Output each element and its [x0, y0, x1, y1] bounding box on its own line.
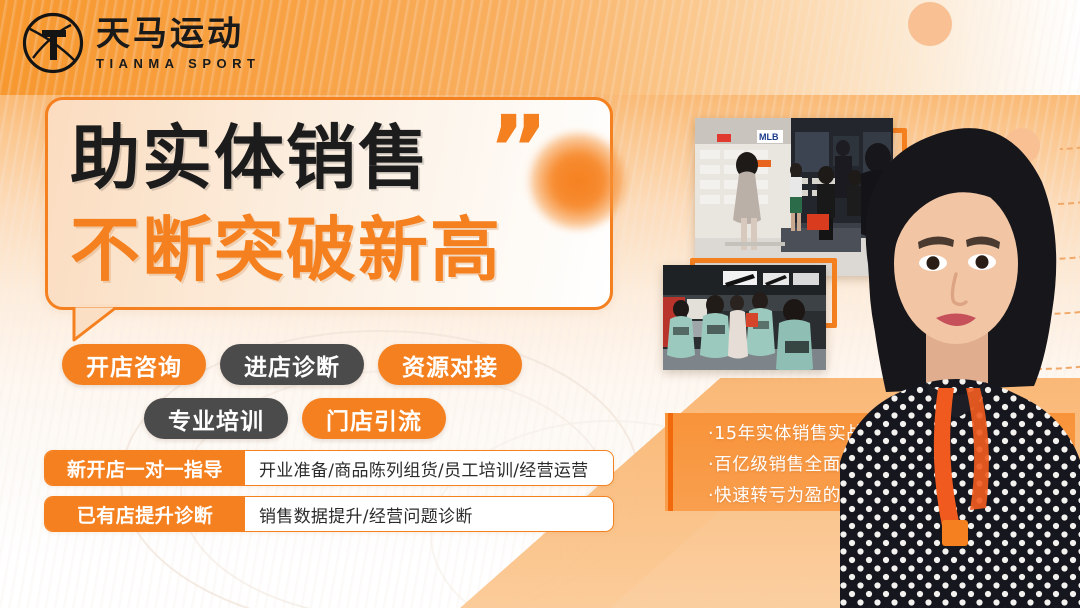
pill-row-2: 专业培训 门店引流 — [62, 398, 662, 439]
svg-text:MLB: MLB — [759, 132, 779, 142]
service-row[interactable]: 已有店提升诊断 销售数据提升/经营问题诊断 — [44, 496, 614, 532]
pill-store-diagnosis[interactable]: 进店诊断 — [220, 344, 364, 385]
pill-professional-training[interactable]: 专业培训 — [144, 398, 288, 439]
basketball-monogram-icon — [22, 12, 84, 74]
promo-banner: 天马运动 TIANMA SPORT 助实体销售 不断突破新高 ” 开店咨询 进店… — [0, 0, 1080, 608]
pill-open-store-consult[interactable]: 开店咨询 — [62, 344, 206, 385]
headline-line-2: 不断突破新高 — [70, 204, 610, 296]
quotation-mark-icon: ” — [488, 104, 548, 196]
brand-name-cn: 天马运动 — [96, 17, 260, 51]
panel-accent-bar — [668, 413, 673, 511]
service-detail-list: 新开店一对一指导 开业准备/商品陈列组货/员工培训/经营运营 已有店提升诊断 销… — [44, 450, 614, 542]
consultant-portrait — [830, 96, 1080, 608]
brand-logo[interactable]: 天马运动 TIANMA SPORT — [22, 12, 260, 74]
service-detail-existing-store: 销售数据提升/经营问题诊断 — [245, 497, 613, 531]
pill-resource-matching[interactable]: 资源对接 — [378, 344, 522, 385]
service-label-new-store: 新开店一对一指导 — [45, 451, 245, 485]
pill-store-traffic[interactable]: 门店引流 — [302, 398, 446, 439]
pill-row-1: 开店咨询 进店诊断 资源对接 — [62, 344, 662, 385]
service-label-existing-store: 已有店提升诊断 — [45, 497, 245, 531]
service-row[interactable]: 新开店一对一指导 开业准备/商品陈列组货/员工培训/经营运营 — [44, 450, 614, 486]
service-detail-new-store: 开业准备/商品陈列组货/员工培训/经营运营 — [245, 451, 613, 485]
brand-name-en: TIANMA SPORT — [96, 57, 260, 70]
speech-bubble-tail — [72, 304, 120, 342]
service-pill-group: 开店咨询 进店诊断 资源对接 专业培训 门店引流 — [62, 344, 662, 452]
staff-training-photo — [663, 265, 826, 370]
